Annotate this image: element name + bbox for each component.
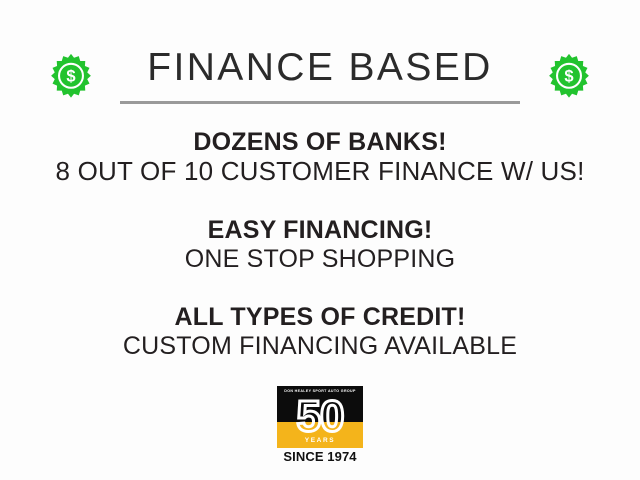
dealer-logo: DON HEALEY SPORT AUTO GROUP 50 YEARS SIN…	[277, 386, 363, 465]
logo-anniversary-number: 50	[277, 395, 363, 439]
finance-based-poster: $ FINANCE BASED $ DOZENS OF BANKS! 8 OUT…	[0, 0, 640, 480]
copy-headline: DOZENS OF BANKS!	[0, 128, 640, 157]
copy-subline: 8 OUT OF 10 CUSTOMER FINANCE W/ US!	[0, 157, 640, 187]
svg-text:$: $	[564, 67, 573, 86]
anniversary-badge: DON HEALEY SPORT AUTO GROUP 50 YEARS	[277, 386, 363, 448]
poster-header: $ FINANCE BASED $	[0, 40, 640, 112]
copy-block: EASY FINANCING! ONE STOP SHOPPING	[0, 216, 640, 273]
poster-copy: DOZENS OF BANKS! 8 OUT OF 10 CUSTOMER FI…	[0, 128, 640, 360]
copy-block: DOZENS OF BANKS! 8 OUT OF 10 CUSTOMER FI…	[0, 128, 640, 186]
copy-subline: ONE STOP SHOPPING	[0, 245, 640, 274]
title-group: FINANCE BASED	[120, 48, 520, 104]
svg-text:$: $	[66, 67, 75, 86]
money-gear-icon-right: $	[546, 53, 592, 99]
money-gear-icon-left: $	[48, 53, 94, 99]
copy-headline: EASY FINANCING!	[0, 216, 640, 245]
logo-since-label: SINCE 1974	[277, 450, 363, 465]
copy-subline: CUSTOM FINANCING AVAILABLE	[0, 332, 640, 361]
copy-block: ALL TYPES OF CREDIT! CUSTOM FINANCING AV…	[0, 303, 640, 360]
title-divider	[120, 101, 520, 104]
page-title: FINANCE BASED	[147, 48, 492, 87]
copy-headline: ALL TYPES OF CREDIT!	[0, 303, 640, 332]
logo-years-label: YEARS	[277, 438, 363, 445]
